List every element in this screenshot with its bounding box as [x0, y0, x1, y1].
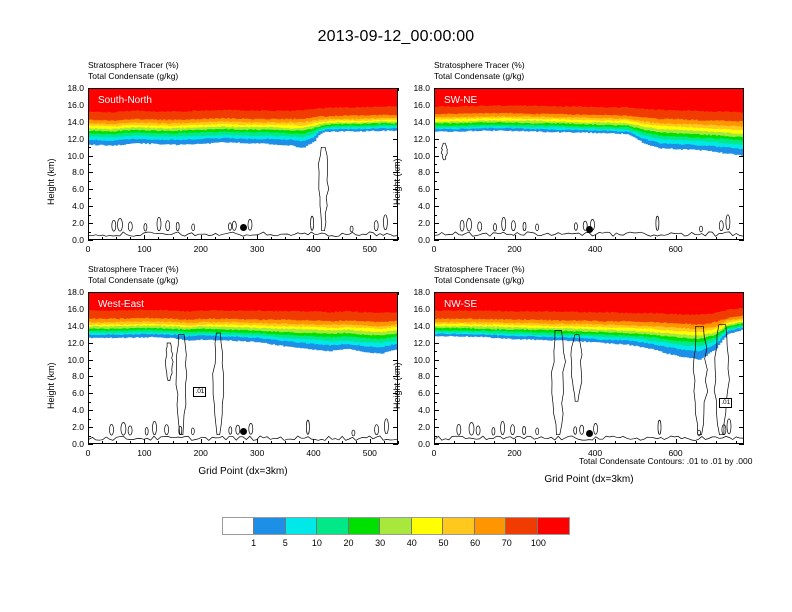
colorbar-cell[interactable] [349, 518, 380, 534]
header-line-condensate: Total Condensate (g/kg) [434, 71, 525, 82]
condensate-blob [229, 427, 232, 435]
y-tick-label: 4.0 [54, 405, 84, 415]
x-tick-label: 0 [68, 244, 108, 254]
x-tick-minor [398, 441, 399, 444]
colorbar-cell[interactable] [412, 518, 443, 534]
condensate-blob [536, 428, 539, 435]
x-tick-label: 0 [414, 244, 454, 254]
y-tick-label: 4.0 [54, 201, 84, 211]
surface-condensate-line [89, 436, 397, 441]
colorbar-swatches[interactable] [222, 517, 570, 535]
x-tick-label: 0 [414, 448, 454, 458]
condensate-blob [232, 221, 236, 230]
condensate-blob [350, 226, 353, 232]
figure-canvas: 2013-09-12_00:00:00 Stratosphere Tracer … [0, 0, 792, 612]
contour-value-label: .01 [193, 387, 206, 397]
y-tick-label: 10.0 [400, 355, 430, 365]
condensate-blob [144, 224, 147, 232]
surface-condensate-line [89, 232, 397, 237]
x-tick-label: 200 [495, 448, 535, 458]
x-tick-label: 100 [124, 244, 164, 254]
y-tick-label: 2.0 [400, 218, 430, 228]
x-tick-minor [398, 237, 399, 240]
colorbar-cell[interactable] [223, 518, 254, 534]
x-tick-label: 500 [350, 448, 390, 458]
x-tick-label: 400 [293, 244, 333, 254]
condensate-plume [571, 335, 582, 402]
y-tick-label: 12.0 [54, 134, 84, 144]
condensate-plume [213, 333, 224, 435]
y-tick-label: 12.0 [400, 338, 430, 348]
condensate-blob [478, 222, 482, 231]
y-tick-label: 18.0 [54, 287, 84, 297]
condensate-blob [121, 423, 126, 436]
y-tick-label: 8.0 [54, 371, 84, 381]
x-tick-label: 600 [656, 244, 696, 254]
y-tick-mark [434, 240, 439, 241]
panel-tag-nw-se: NW-SE [444, 299, 477, 310]
y-tick-label: 10.0 [400, 151, 430, 161]
condensate-contours [89, 333, 397, 440]
x-tick-label: 100 [124, 448, 164, 458]
y-tick-label: 12.0 [54, 338, 84, 348]
condensate-blob [176, 222, 179, 230]
condensate-blob [511, 221, 515, 231]
header-line-condensate: Total Condensate (g/kg) [88, 275, 179, 286]
y-tick-label: 18.0 [400, 287, 430, 297]
header-line-tracer: Stratosphere Tracer (%) [434, 60, 525, 71]
y-tick-label: 6.0 [54, 388, 84, 398]
contour-fill-south-north [89, 89, 397, 239]
colorbar-cell[interactable] [506, 518, 537, 534]
y-tick-label: 6.0 [54, 184, 84, 194]
condensate-blob [476, 426, 480, 435]
x-tick-label: 200 [181, 244, 221, 254]
y-tick-label: 16.0 [400, 304, 430, 314]
condensate-blob [110, 424, 114, 435]
contour-value-label: .01 [719, 398, 732, 408]
y-tick-label: 10.0 [54, 355, 84, 365]
condensate-blob [719, 221, 723, 231]
x-tick-label: 500 [350, 244, 390, 254]
contour-fill-sw-ne [435, 89, 743, 239]
y-tick-label: 14.0 [54, 321, 84, 331]
panel-tag-sw-ne: SW-NE [444, 95, 477, 106]
y-axis-label-2: Height (km) [46, 362, 56, 409]
colorbar-cell[interactable] [538, 518, 569, 534]
condensate-blob [726, 215, 730, 230]
panel-header-sw-ne: Stratosphere Tracer (%) Total Condensate… [434, 60, 525, 81]
x-tick-label: 300 [237, 448, 277, 458]
location-marker-dot[interactable] [240, 428, 247, 435]
y-tick-label: 14.0 [54, 117, 84, 127]
y-tick-label: 8.0 [54, 167, 84, 177]
condensate-blob [311, 216, 314, 230]
condensate-blob [112, 220, 116, 231]
y-tick-label: 4.0 [400, 201, 430, 211]
panel-tag-west-east: West-East [98, 299, 144, 310]
y-tick-mark [88, 444, 93, 445]
condensate-blob [511, 425, 515, 435]
colorbar-cell[interactable] [380, 518, 411, 534]
x-tick-minor [398, 88, 399, 91]
header-line-tracer: Stratosphere Tracer (%) [434, 264, 525, 275]
y-tick-label: 16.0 [54, 304, 84, 314]
condensate-blob [352, 430, 355, 436]
condensate-blob [165, 425, 169, 435]
header-line-tracer: Stratosphere Tracer (%) [88, 60, 179, 71]
condensate-blob [157, 217, 161, 230]
header-line-condensate: Total Condensate (g/kg) [88, 71, 179, 82]
condensate-blob [128, 222, 132, 231]
condensate-blob [523, 222, 526, 230]
condensate-plume [441, 143, 447, 160]
y-tick-label: 8.0 [400, 371, 430, 381]
location-marker-dot[interactable] [240, 224, 247, 231]
colorbar-cell[interactable] [475, 518, 506, 534]
condensate-blob [248, 219, 252, 230]
panel-header-west-east: Stratosphere Tracer (%) Total Condensate… [88, 264, 179, 285]
x-axis-label-3: Grid Point (dx=3km) [489, 474, 689, 485]
y-tick-label: 4.0 [400, 405, 430, 415]
condensate-blob [306, 420, 309, 434]
colorbar-cell[interactable] [443, 518, 474, 534]
y-tick-mark [739, 444, 744, 445]
panel-tag-south-north: South-North [98, 95, 152, 106]
condensate-plume [176, 335, 187, 435]
panel-header-south-north: Stratosphere Tracer (%) Total Condensate… [88, 60, 179, 81]
condensate-blob [574, 223, 577, 231]
condensate-blob [192, 224, 195, 231]
condensate-blob [460, 220, 464, 231]
y-tick-label: 18.0 [54, 83, 84, 93]
condensate-blob [502, 217, 506, 230]
x-tick-label: 400 [293, 448, 333, 458]
y-tick-mark [393, 444, 398, 445]
y-tick-label: 16.0 [400, 100, 430, 110]
condensate-blob [594, 423, 598, 434]
condensate-blob [727, 419, 731, 434]
y-tick-label: 6.0 [400, 184, 430, 194]
condensate-plume [165, 343, 173, 381]
x-axis-label-2: Grid Point (dx=3km) [143, 466, 343, 477]
condensate-plume [552, 331, 566, 435]
condensate-blob [492, 428, 495, 436]
colorbar-cell[interactable] [286, 518, 317, 534]
contour-fill-west-east [89, 293, 397, 443]
y-tick-mark [88, 240, 93, 241]
location-marker-dot[interactable] [586, 226, 593, 233]
condensate-blob [457, 424, 461, 435]
condensate-blob [700, 226, 703, 232]
colorbar-cell[interactable] [254, 518, 285, 534]
condensate-blob [374, 221, 378, 231]
condensate-contours [435, 143, 743, 236]
location-marker-dot[interactable] [586, 430, 593, 437]
condensate-blob [128, 426, 132, 435]
condensate-blob [658, 420, 661, 434]
y-tick-label: 2.0 [400, 422, 430, 432]
panel-header-nw-se: Stratosphere Tracer (%) Total Condensate… [434, 264, 525, 285]
y-tick-label: 18.0 [400, 83, 430, 93]
condensate-blob [494, 224, 497, 232]
x-tick-label: 600 [656, 448, 696, 458]
condensate-blob [145, 428, 148, 436]
y-tick-label: 8.0 [400, 167, 430, 177]
x-tick-label: 200 [495, 244, 535, 254]
y-tick-label: 10.0 [54, 151, 84, 161]
y-tick-label: 16.0 [54, 100, 84, 110]
condensate-blob [118, 219, 123, 232]
y-tick-mark [739, 240, 744, 241]
x-tick-label: 200 [181, 448, 221, 458]
y-tick-mark [393, 240, 398, 241]
condensate-blob [375, 425, 379, 435]
colorbar-tick-label: 100 [518, 538, 558, 548]
condensate-blob [469, 423, 474, 436]
condensate-blob [501, 421, 505, 434]
y-tick-mark [434, 444, 439, 445]
y-tick-label: 2.0 [54, 422, 84, 432]
x-tick-label: 300 [237, 244, 277, 254]
colorbar-cell[interactable] [317, 518, 348, 534]
condensate-blob [249, 423, 253, 434]
figure-title: 2013-09-12_00:00:00 [0, 28, 792, 46]
x-tick-minor [398, 292, 399, 295]
condensate-blob [656, 216, 659, 230]
y-tick-label: 14.0 [400, 321, 430, 331]
header-line-condensate: Total Condensate (g/kg) [434, 275, 525, 286]
contour-fill-nw-se [435, 293, 743, 443]
condensate-blob [383, 215, 387, 230]
condensate-blob [191, 428, 194, 435]
y-tick-label: 12.0 [400, 134, 430, 144]
condensate-blob [166, 221, 170, 231]
y-tick-label: 6.0 [400, 388, 430, 398]
y-tick-label: 14.0 [400, 117, 430, 127]
condensate-blob [153, 421, 157, 434]
x-tick-label: 0 [68, 448, 108, 458]
y-tick-label: 2.0 [54, 218, 84, 228]
condensate-plume [318, 147, 328, 230]
x-tick-label: 400 [575, 448, 615, 458]
condensate-blob [523, 426, 526, 434]
condensate-blob [536, 224, 539, 231]
condensate-blob [467, 219, 472, 232]
x-tick-label: 400 [575, 244, 615, 254]
header-line-tracer: Stratosphere Tracer (%) [88, 264, 179, 275]
condensate-blob [229, 223, 232, 231]
condensate-blob [574, 427, 577, 435]
condensate-blob [580, 425, 584, 434]
condensate-blob [384, 419, 388, 434]
y-axis-label-0: Height (km) [46, 158, 56, 205]
